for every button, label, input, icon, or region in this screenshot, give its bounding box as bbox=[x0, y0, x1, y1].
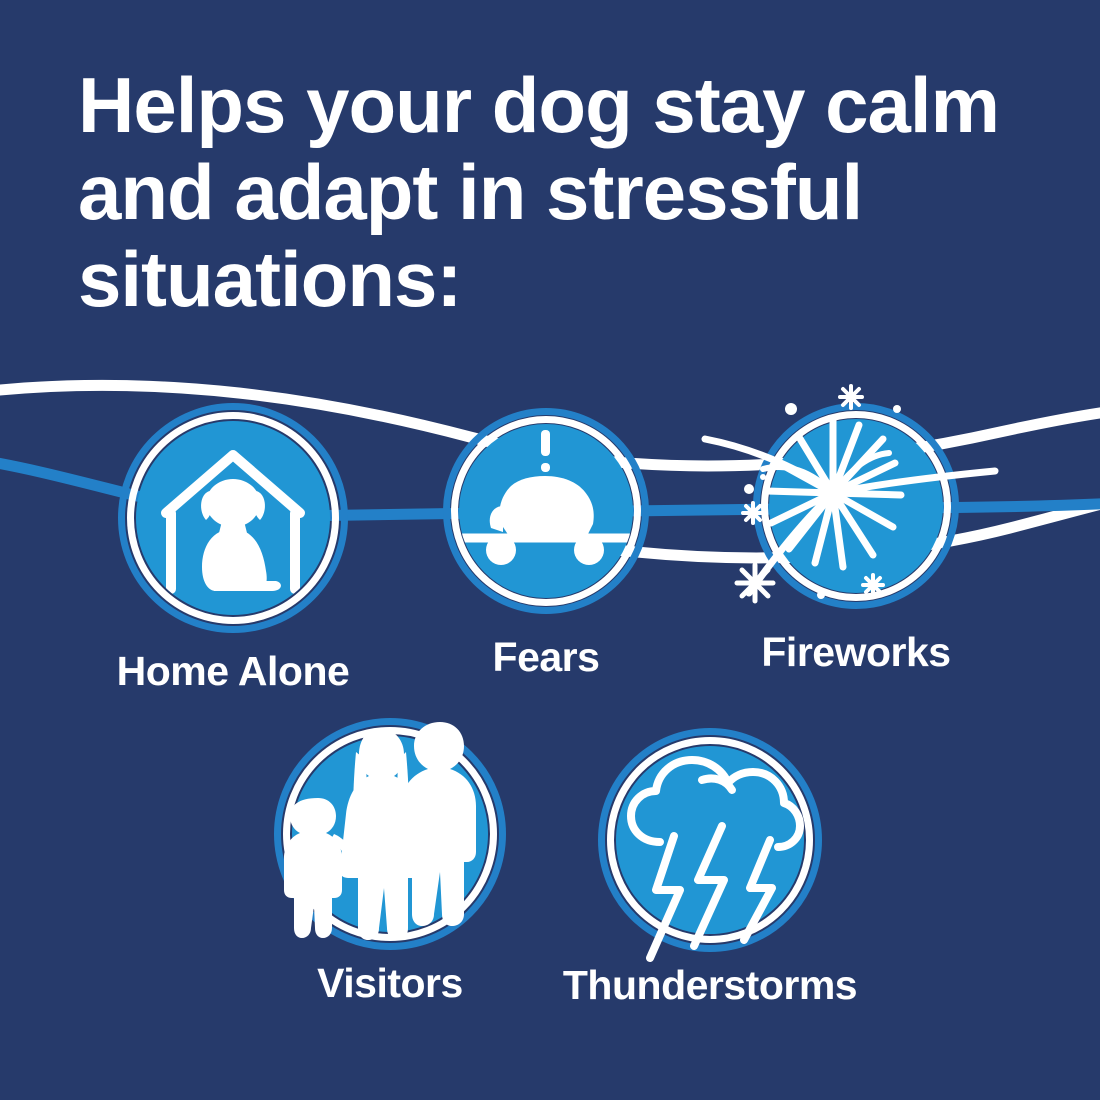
item-home-alone[interactable]: Home Alone bbox=[118, 403, 348, 633]
icon-circle-visitors bbox=[268, 718, 512, 950]
cloud-lightning-icon bbox=[598, 728, 822, 978]
infographic-canvas: Helps your dog stay calm and adapt in st… bbox=[0, 0, 1100, 1100]
item-fears[interactable]: Fears bbox=[443, 408, 649, 614]
firework-burst-icon bbox=[683, 343, 1013, 663]
icon-circle-fireworks bbox=[753, 403, 959, 609]
item-thunderstorms[interactable]: Thunderstorms bbox=[598, 728, 822, 952]
item-label-home-alone: Home Alone bbox=[110, 648, 356, 695]
dog-hiding-under-table-icon bbox=[459, 424, 633, 598]
dog-in-house-icon bbox=[136, 421, 330, 615]
icon-circle-home-alone bbox=[118, 403, 348, 633]
page-title: Helps your dog stay calm and adapt in st… bbox=[78, 62, 1058, 323]
circle-fill bbox=[459, 424, 633, 598]
item-label-fears: Fears bbox=[431, 634, 661, 681]
family-people-icon bbox=[268, 702, 512, 968]
item-visitors[interactable]: Visitors bbox=[268, 718, 512, 950]
item-fireworks[interactable]: Fireworks bbox=[753, 403, 959, 609]
item-label-visitors: Visitors bbox=[266, 960, 514, 1007]
item-label-thunderstorms: Thunderstorms bbox=[540, 962, 880, 1009]
icon-circle-fears bbox=[443, 408, 649, 614]
circle-fill bbox=[136, 421, 330, 615]
icon-circle-thunderstorms bbox=[598, 728, 822, 952]
item-label-fireworks: Fireworks bbox=[741, 629, 971, 676]
